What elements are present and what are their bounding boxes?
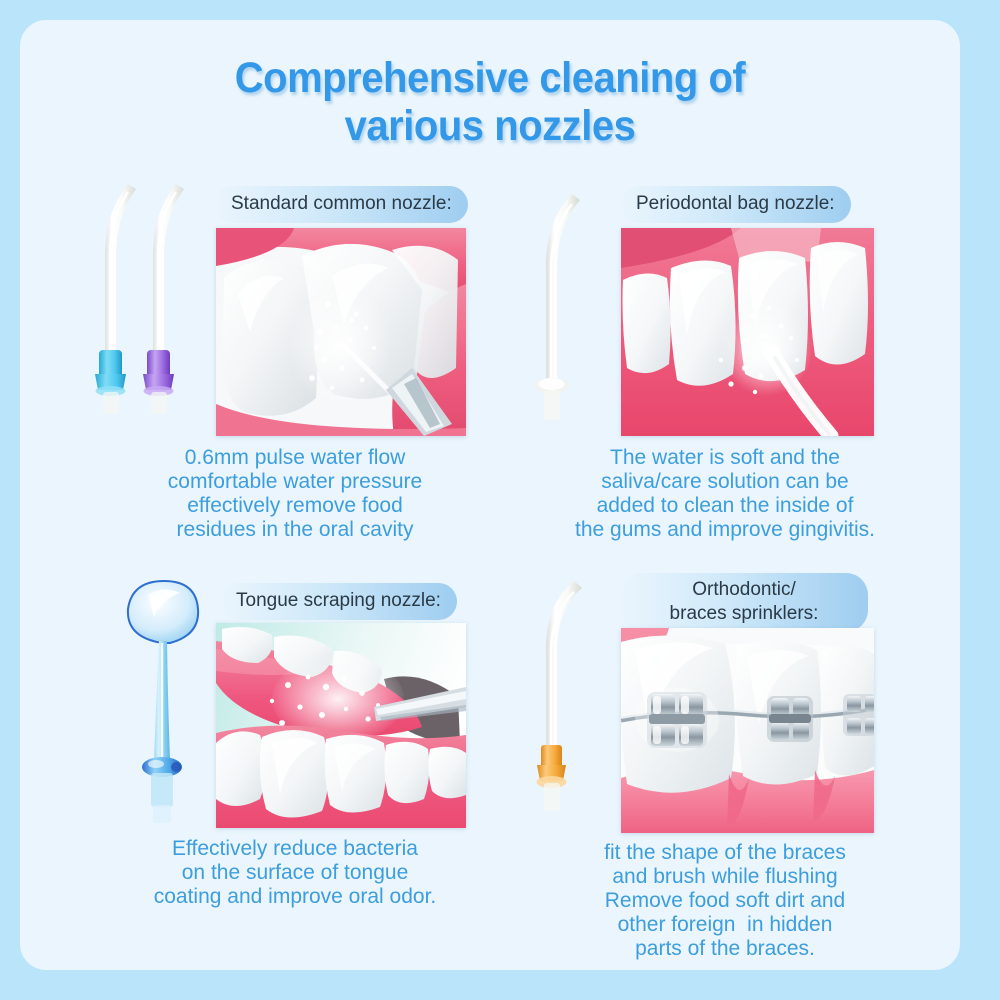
page-title: Comprehensive cleaning of various nozzle… [53, 54, 927, 150]
periodontal-nozzle-icon [518, 192, 608, 422]
standard-nozzle-pair-icon [80, 178, 210, 428]
caption-periodontal-bag-nozzle: The water is soft and the saliva/care so… [510, 446, 940, 542]
label-tongue-scraping-nozzle: Tongue scraping nozzle: [220, 583, 457, 620]
section-periodontal-bag-nozzle: Periodontal bag nozzle: [510, 170, 940, 560]
label-standard-common-nozzle: Standard common nozzle: [215, 186, 468, 223]
label-orthodontic-braces-sprinkler: Orthodontic/ braces sprinklers: [620, 573, 868, 632]
section-tongue-scraping-nozzle: Tongue scraping nozzle: [80, 565, 510, 975]
caption-standard-common-nozzle: 0.6mm pulse water flow comfortable water… [80, 446, 510, 542]
tongue-scraper-nozzle-icon [118, 577, 218, 827]
section-orthodontic-braces-sprinkler: Orthodontic/ braces sprinklers: [510, 565, 940, 975]
photo-tongue-scraping-nozzle [216, 623, 466, 828]
orthodontic-nozzle-icon [518, 579, 608, 819]
section-standard-common-nozzle: Standard common nozzle: [80, 170, 510, 560]
photo-periodontal-bag-nozzle [621, 228, 874, 436]
photo-orthodontic-braces-sprinkler [621, 628, 874, 833]
label-periodontal-bag-nozzle: Periodontal bag nozzle: [620, 186, 851, 223]
page-title-line-1: Comprehensive cleaning of [53, 54, 927, 102]
page-title-line-2: various nozzles [53, 102, 927, 150]
caption-orthodontic-braces-sprinkler: fit the shape of the braces and brush wh… [510, 841, 940, 961]
photo-standard-common-nozzle [216, 228, 466, 436]
caption-tongue-scraping-nozzle: Effectively reduce bacteria on the surfa… [80, 837, 510, 909]
infographic-panel: Comprehensive cleaning of various nozzle… [20, 20, 960, 970]
